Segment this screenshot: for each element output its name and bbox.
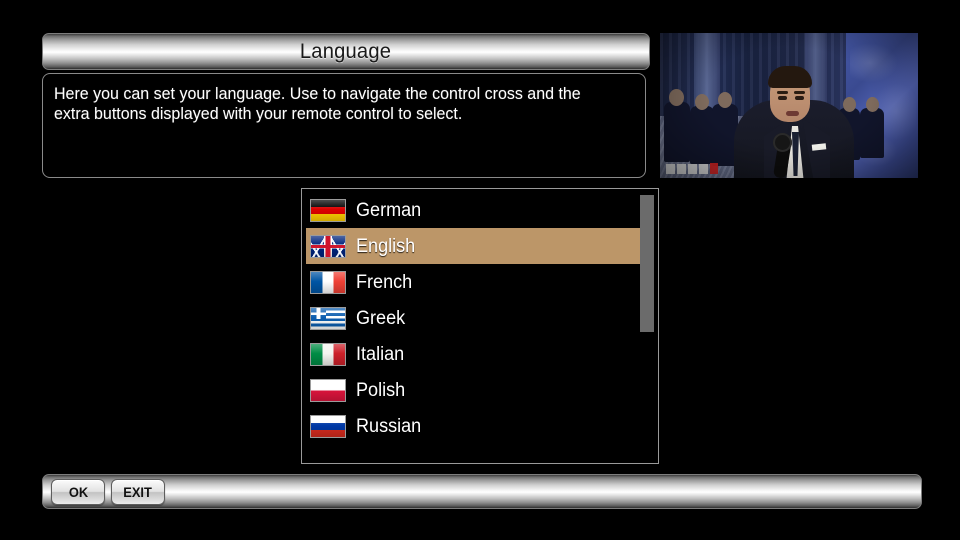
language-list[interactable]: German English French Greek Italian Poli xyxy=(306,192,642,444)
list-item-polish[interactable]: Polish xyxy=(306,372,642,408)
title-bar: Language xyxy=(42,33,650,70)
footer-bar: OK EXIT xyxy=(42,474,922,509)
flag-ru-icon xyxy=(310,415,346,438)
list-item-label: Italian xyxy=(356,345,404,364)
flag-it-icon xyxy=(310,343,346,366)
list-item-french[interactable]: French xyxy=(306,264,642,300)
flag-de-icon xyxy=(310,199,346,222)
help-box: Here you can set your language. Use to n… xyxy=(42,73,646,178)
exit-button-label: EXIT xyxy=(124,484,153,500)
list-item-greek[interactable]: Greek xyxy=(306,300,642,336)
osd-screen: Language Here you can set your language.… xyxy=(0,0,960,540)
ok-button[interactable]: OK xyxy=(51,479,105,505)
tv-live-preview[interactable] xyxy=(660,33,918,178)
flag-fr-icon xyxy=(310,271,346,294)
list-item-german[interactable]: German xyxy=(306,192,642,228)
list-item-label: French xyxy=(356,273,412,292)
flag-gb-icon xyxy=(310,235,346,258)
help-text: Here you can set your language. Use to n… xyxy=(54,84,617,124)
flag-gr-icon xyxy=(310,307,346,330)
preview-vignette xyxy=(660,33,918,178)
list-item-label: Polish xyxy=(356,381,405,400)
flag-pl-icon xyxy=(310,379,346,402)
scrollbar-track[interactable] xyxy=(642,191,656,463)
list-item-label: German xyxy=(356,201,421,220)
exit-button[interactable]: EXIT xyxy=(111,479,165,505)
list-item-italian[interactable]: Italian xyxy=(306,336,642,372)
footer-buttons: OK EXIT xyxy=(51,479,165,505)
list-item-label: English xyxy=(356,237,415,256)
list-item-english[interactable]: English xyxy=(306,228,642,264)
scrollbar-thumb[interactable] xyxy=(640,195,654,332)
language-list-panel: German English French Greek Italian Poli xyxy=(301,188,659,464)
page-title: Language xyxy=(300,40,391,64)
ok-button-label: OK xyxy=(68,484,87,500)
list-item-russian[interactable]: Russian xyxy=(306,408,642,444)
list-item-label: Russian xyxy=(356,417,421,436)
list-item-label: Greek xyxy=(356,309,405,328)
